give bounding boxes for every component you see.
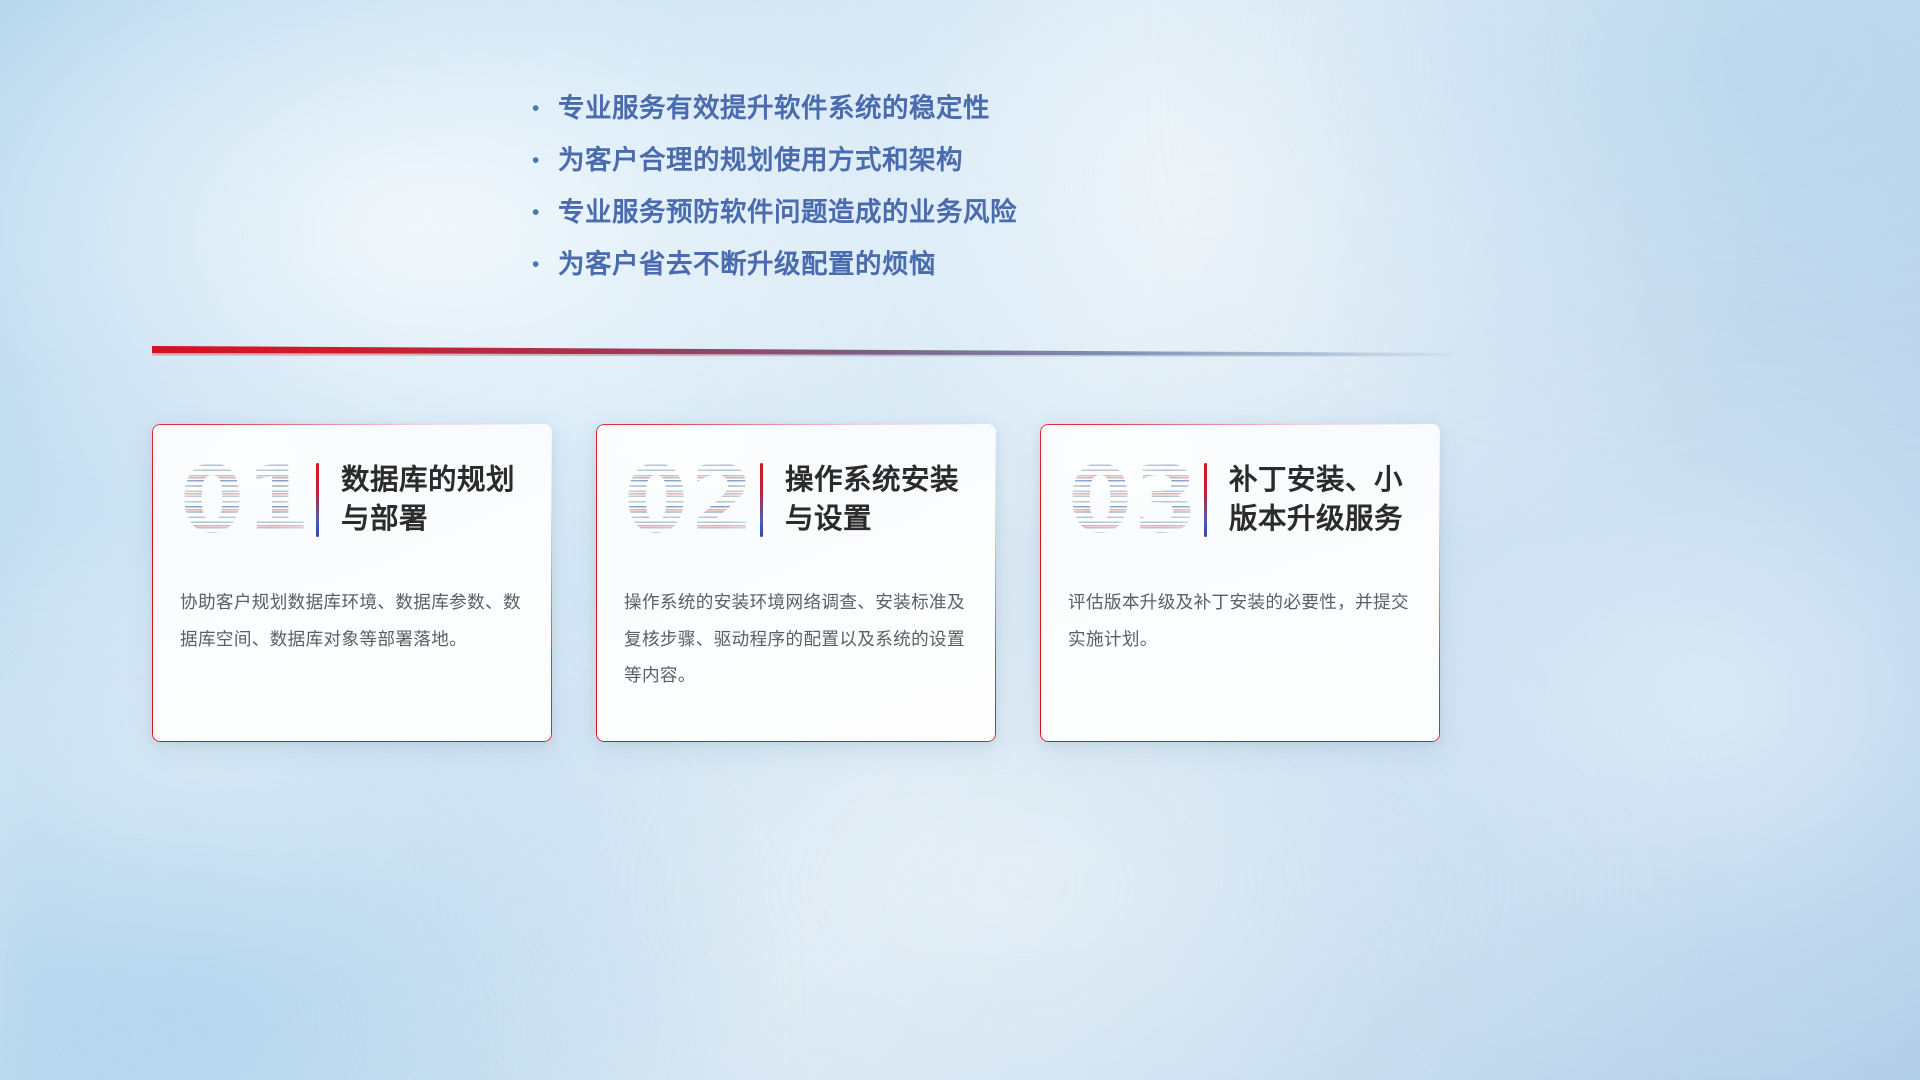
card-description: 操作系统的安装环境网络调查、安装标准及复核步骤、驱动程序的配置以及系统的设置等内… bbox=[624, 584, 970, 694]
card-title: 操作系统安装与设置 bbox=[785, 461, 996, 540]
card-number-blue-stripes: 01 bbox=[176, 445, 316, 555]
service-card[interactable]: 01 01 01 数据库的规划与部署 协助客户规划数据库环境、数据库参数、数据库… bbox=[152, 424, 552, 742]
bullet-dot-icon: • bbox=[532, 98, 558, 119]
card-header: 02 02 02 操作系统安装与设置 bbox=[596, 440, 996, 560]
card-description: 评估版本升级及补丁安装的必要性，并提交实施计划。 bbox=[1068, 584, 1414, 657]
list-item: • 专业服务有效提升软件系统的稳定性 bbox=[532, 86, 1152, 138]
card-number-blue-stripes: 02 bbox=[620, 445, 760, 555]
card-number-watermark: 01 01 01 bbox=[176, 445, 316, 555]
card-number-watermark: 02 02 02 bbox=[620, 445, 760, 555]
bullet-dot-icon: • bbox=[532, 150, 558, 171]
card-divider-bar bbox=[316, 463, 319, 537]
card-title: 数据库的规划与部署 bbox=[341, 461, 552, 540]
card-number-watermark: 03 03 03 bbox=[1064, 445, 1204, 555]
list-item: • 为客户省去不断升级配置的烦恼 bbox=[532, 242, 1152, 294]
card-number-blue-stripes: 03 bbox=[1064, 445, 1204, 555]
card-divider-bar bbox=[1204, 463, 1207, 537]
section-divider bbox=[152, 344, 1452, 364]
card-header: 01 01 01 数据库的规划与部署 bbox=[152, 440, 552, 560]
list-item: • 为客户合理的规划使用方式和架构 bbox=[532, 138, 1152, 190]
card-description: 协助客户规划数据库环境、数据库参数、数据库空间、数据库对象等部署落地。 bbox=[180, 584, 526, 657]
list-item: • 专业服务预防软件问题造成的业务风险 bbox=[532, 190, 1152, 242]
card-title: 补丁安装、小版本升级服务 bbox=[1229, 461, 1440, 540]
service-cards: 01 01 01 数据库的规划与部署 协助客户规划数据库环境、数据库参数、数据库… bbox=[152, 424, 1768, 744]
slide-canvas: • 专业服务有效提升软件系统的稳定性 • 为客户合理的规划使用方式和架构 • 专… bbox=[0, 0, 1920, 1080]
bullet-text: 专业服务有效提升软件系统的稳定性 bbox=[558, 86, 990, 125]
benefits-bullet-list: • 专业服务有效提升软件系统的稳定性 • 为客户合理的规划使用方式和架构 • 专… bbox=[532, 86, 1152, 294]
service-card[interactable]: 03 03 03 补丁安装、小版本升级服务 评估版本升级及补丁安装的必要性，并提… bbox=[1040, 424, 1440, 742]
service-card[interactable]: 02 02 02 操作系统安装与设置 操作系统的安装环境网络调查、安装标准及复核… bbox=[596, 424, 996, 742]
divider-shape bbox=[152, 344, 1452, 364]
bullet-text: 专业服务预防软件问题造成的业务风险 bbox=[558, 190, 1017, 229]
bullet-text: 为客户省去不断升级配置的烦恼 bbox=[558, 242, 936, 281]
bullet-dot-icon: • bbox=[532, 202, 558, 223]
card-header: 03 03 03 补丁安装、小版本升级服务 bbox=[1040, 440, 1440, 560]
card-divider-bar bbox=[760, 463, 763, 537]
bullet-dot-icon: • bbox=[532, 254, 558, 275]
bullet-text: 为客户合理的规划使用方式和架构 bbox=[558, 138, 963, 177]
